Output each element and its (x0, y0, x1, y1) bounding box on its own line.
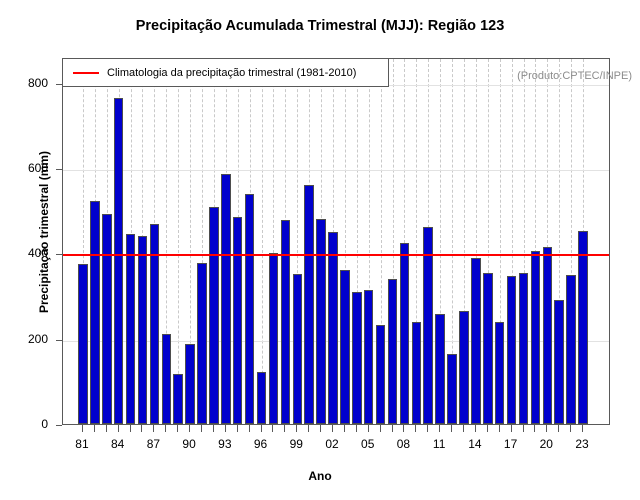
x-tick-label: 99 (281, 437, 311, 451)
x-tick-mark (558, 425, 559, 432)
x-tick-label: 81 (67, 437, 97, 451)
x-tick-label: 93 (210, 437, 240, 451)
bar (483, 273, 493, 424)
legend: Climatologia da precipitação trimestral … (62, 58, 389, 87)
bar (423, 227, 433, 424)
bar (114, 98, 124, 424)
x-tick-label: 05 (353, 437, 383, 451)
x-tick-label: 90 (174, 437, 204, 451)
x-tick-mark (261, 425, 262, 432)
bar (126, 234, 136, 424)
bar (447, 354, 457, 424)
source-credit: (Produto:CPTEC/INPE) (517, 70, 632, 82)
bar (364, 290, 374, 424)
gridline-vertical (262, 59, 263, 424)
x-tick-mark (118, 425, 119, 432)
x-tick-mark (511, 425, 512, 432)
bar (554, 300, 564, 424)
x-tick-label: 87 (138, 437, 168, 451)
bar (78, 264, 88, 424)
bar (495, 322, 505, 424)
x-tick-label: 84 (103, 437, 133, 451)
bar (138, 236, 148, 424)
x-tick-label: 17 (496, 437, 526, 451)
bar (185, 344, 195, 424)
bar (340, 270, 350, 424)
x-tick-mark (272, 425, 273, 432)
x-tick-mark (368, 425, 369, 432)
x-tick-mark (392, 425, 393, 432)
x-tick-mark (82, 425, 83, 432)
x-tick-mark (201, 425, 202, 432)
x-tick-mark (380, 425, 381, 432)
chart-figure: Precipitação Acumulada Trimestral (MJJ):… (0, 0, 640, 500)
y-tick-label: 800 (0, 76, 48, 90)
bar (233, 217, 243, 424)
x-tick-mark (534, 425, 535, 432)
bar (412, 322, 422, 424)
y-tick-mark (56, 425, 62, 426)
x-tick-mark (523, 425, 524, 432)
bar (197, 263, 207, 424)
bar (173, 374, 183, 424)
bar (209, 207, 219, 424)
x-tick-label: 23 (567, 437, 597, 451)
x-tick-label: 11 (424, 437, 454, 451)
x-tick-mark (249, 425, 250, 432)
bar (543, 247, 553, 424)
bar (578, 231, 588, 424)
bar (435, 314, 445, 424)
x-tick-mark (213, 425, 214, 432)
x-tick-mark (189, 425, 190, 432)
x-tick-mark (439, 425, 440, 432)
bar (459, 311, 469, 424)
bar (269, 253, 279, 424)
x-tick-mark (106, 425, 107, 432)
bar (507, 276, 517, 425)
bar (376, 325, 386, 424)
x-tick-label: 08 (388, 437, 418, 451)
x-tick-mark (237, 425, 238, 432)
y-tick-label: 200 (0, 332, 48, 346)
climatology-reference-line (63, 254, 609, 256)
x-tick-mark (451, 425, 452, 432)
x-tick-mark (427, 425, 428, 432)
x-tick-mark (225, 425, 226, 432)
bar (90, 201, 100, 424)
plot-area (62, 58, 610, 425)
y-tick-label: 400 (0, 246, 48, 260)
bar (388, 279, 398, 424)
x-tick-mark (94, 425, 95, 432)
x-tick-mark (308, 425, 309, 432)
x-tick-mark (499, 425, 500, 432)
x-tick-mark (165, 425, 166, 432)
page-title: Precipitação Acumulada Trimestral (MJJ):… (0, 18, 640, 34)
x-tick-label: 14 (460, 437, 490, 451)
x-tick-mark (141, 425, 142, 432)
x-tick-mark (284, 425, 285, 432)
bar (328, 232, 338, 424)
legend-line-swatch-icon (73, 72, 99, 74)
legend-item-label: Climatologia da precipitação trimestral … (107, 67, 356, 79)
bar (471, 258, 481, 424)
x-tick-mark (570, 425, 571, 432)
bar (245, 194, 255, 424)
bar (162, 334, 172, 424)
bar (257, 372, 267, 424)
x-tick-mark (153, 425, 154, 432)
bar (519, 273, 529, 424)
bar (352, 292, 362, 424)
x-tick-label: 20 (531, 437, 561, 451)
x-tick-mark (475, 425, 476, 432)
y-tick-label: 0 (0, 417, 48, 431)
x-tick-mark (546, 425, 547, 432)
y-tick-label: 600 (0, 161, 48, 175)
x-tick-mark (487, 425, 488, 432)
bar (293, 274, 303, 424)
gridline-horizontal (63, 170, 609, 171)
bar (221, 174, 231, 424)
bar (400, 243, 410, 424)
x-tick-mark (356, 425, 357, 432)
x-tick-mark (296, 425, 297, 432)
x-tick-label: 96 (246, 437, 276, 451)
x-tick-mark (344, 425, 345, 432)
x-tick-mark (177, 425, 178, 432)
bar (566, 275, 576, 424)
x-tick-mark (320, 425, 321, 432)
x-tick-mark (403, 425, 404, 432)
bar (531, 251, 541, 424)
bar (304, 185, 314, 424)
y-axis-label: Precipitação trimestral (mm) (37, 102, 51, 362)
x-axis-label: Ano (0, 469, 640, 483)
x-tick-mark (130, 425, 131, 432)
x-tick-label: 02 (317, 437, 347, 451)
bar (316, 219, 326, 424)
x-tick-mark (332, 425, 333, 432)
bar (281, 220, 291, 424)
x-tick-mark (463, 425, 464, 432)
x-tick-mark (415, 425, 416, 432)
x-tick-mark (582, 425, 583, 432)
bar (102, 214, 112, 424)
gridline-vertical (178, 59, 179, 424)
